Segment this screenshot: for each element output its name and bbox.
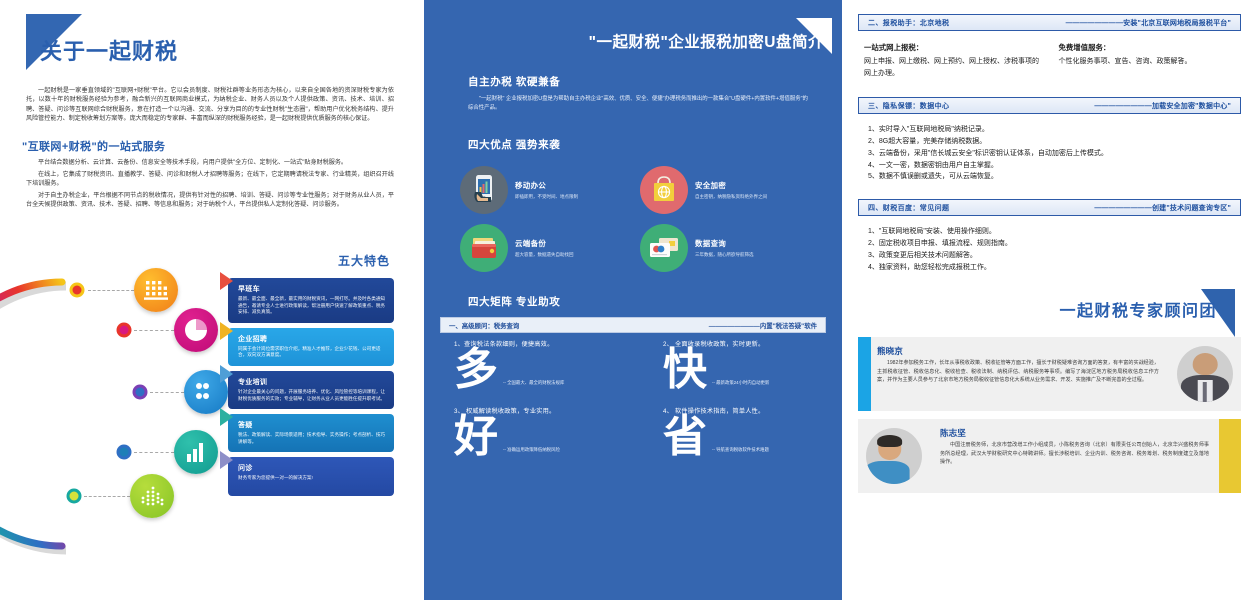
advantage-desc: 即插即用，不受时间、地点限制 xyxy=(515,193,578,200)
two-column-block: 一站式网上报税： 网上申报、网上缴税、网上预约、网上授权、涉税事项的网上办理。 … xyxy=(858,42,1241,79)
mid-section1-title: 自主办税 软硬兼备 xyxy=(468,74,842,89)
expert-band: 一起财税专家顾问团 xyxy=(858,289,1241,329)
shopping-bag-globe-icon xyxy=(640,166,688,214)
connector-line xyxy=(88,290,134,291)
avatar xyxy=(1177,346,1233,402)
panel-right: 二、报税助手：北京地税 ————————安装"北京互联网地税局报税平台" 一站式… xyxy=(842,0,1257,600)
quad-big-char: 多 xyxy=(454,348,499,392)
sub-paragraph-1: 平台结合数据分析、云计算、云备份、信息安全等技术手段，向用户提供"全方位、定制化… xyxy=(26,158,394,167)
advantages-grid: 移动办公 即插即用，不受时间、地点限制 安全加密 自主密钥，纳税 xyxy=(460,166,812,272)
pie-chart-icon xyxy=(174,308,218,352)
flag-marker-icon xyxy=(220,322,233,340)
feature-title: 企业招聘 xyxy=(238,334,386,344)
expert-band-title: 一起财税专家顾问团 xyxy=(1059,297,1217,321)
expert-card[interactable]: 陈志坚 中国注册税务师，北京市营改增工作小组成员，小陈税务咨询（北京）有限责任公… xyxy=(858,419,1241,493)
bag-glyph xyxy=(650,175,678,205)
faq-list: 1、"互联网地税局"安装、使用操作细则。 2、固定税收项目申报、填报流程、规则指… xyxy=(868,226,1241,273)
feature-card[interactable]: 早班车 最新、最全面、最全新，最实用的财税资讯，一网打尽。并及时各类通知通告，邀… xyxy=(228,278,394,323)
feature-desc: 税法、政策解读、实际场景适用；技术指导、实务操作；考点剖析、技巧讲解等。 xyxy=(238,432,386,445)
dot-matrix-icon xyxy=(134,268,178,312)
section-bar-left: 四、财税百度：常见问题 xyxy=(868,203,949,213)
flag-marker-icon xyxy=(220,451,233,469)
feature-card[interactable]: 企业招聘 同属于会计岗位需求职位介绍，精准人才推荐，企业少花钱、公司更适合，双向… xyxy=(228,328,394,366)
list-item: 2、8G超大容量，完美存储纳税数据。 xyxy=(868,136,1241,148)
column: 一站式网上报税： 网上申报、网上缴税、网上预约、网上授权、涉税事项的网上办理。 xyxy=(864,42,1041,79)
avatar xyxy=(866,428,922,484)
quad-cell: 4、 软件操作技术指南，简单人性。 省 -- 导航查询税收软件技术难题 xyxy=(633,406,842,459)
mid-section3-title: 四大矩阵 专业助攻 xyxy=(468,294,842,309)
quotes-glyph xyxy=(194,382,218,402)
column-heading: 免费增值服务： xyxy=(1059,42,1236,53)
section-bar-left: 二、报税助手：北京地税 xyxy=(868,18,949,28)
feature-title: 早班车 xyxy=(238,284,386,294)
quad-row: 1、查询税法条款细则，便捷高效。 多 -- 全国最大、最全的财税法规库 2、 全… xyxy=(424,339,842,392)
histogram-dots-icon xyxy=(130,474,174,518)
quad-big-char: 省 xyxy=(663,415,708,459)
left-subtitle: "互联网+财税"的一站式服务 xyxy=(22,138,420,154)
section-bar-left: 三、隐私保镖：数据中心 xyxy=(868,101,949,111)
privacy-list: 1、实时导入"互联网地税局"纳税记录。 2、8G超大容量，完美存储纳税数据。 3… xyxy=(868,124,1241,183)
advantage-item: 移动办公 即插即用，不受时间、地点限制 xyxy=(460,166,632,214)
quad-note: -- 准确运用政策降低纳税风险 xyxy=(503,447,560,459)
quad-big-char: 好 xyxy=(454,415,499,459)
connector-line xyxy=(84,496,130,497)
flag-marker-icon xyxy=(220,272,233,290)
feature-title: 问诊 xyxy=(238,463,386,473)
matrix-bar-right: ————————内置"税法答疑"软件 xyxy=(709,321,817,330)
quad-note: -- 最新政策24小时内自动更新 xyxy=(712,380,769,392)
list-item: 5、数据不慎误删或遗失，可从云端恢复。 xyxy=(868,171,1241,183)
accent-bar xyxy=(1219,419,1241,493)
advantage-desc: 三年数据，随心所欲导航筛选 xyxy=(695,251,754,258)
advantage-item: 云端备份 超大容量，数据遗失自助找回 xyxy=(460,224,632,272)
feature-card-list: 早班车 最新、最全面、最全新，最实用的财税资讯，一网打尽。并及时各类通知通告，邀… xyxy=(228,278,394,501)
accent-bar xyxy=(858,337,871,411)
section-bar-4: 四、财税百度：常见问题 ————————创建"技术问题查询专区" xyxy=(858,199,1241,216)
feature-desc: 财务专家为您提供一对一的解决方案! xyxy=(238,475,386,482)
brochure-page: 关于一起财税 一起财税是一家垂直领域的"互联网+财税"平台。它以会员制度、财税社… xyxy=(0,0,1259,600)
advantage-title: 数据查询 xyxy=(695,238,754,249)
list-item: 2、固定税收项目申报、填报流程、规则指南。 xyxy=(868,238,1241,250)
list-item: 4、独家资料，助您轻松完成报税工作。 xyxy=(868,262,1241,274)
expert-bio: 1982年参加税务工作，长年从事税收政策、税收征管等方面工作，擅长于财税疑难咨询… xyxy=(877,359,1159,384)
mid-section1-text: "一起财税" 企业报税加密U盘是为帮助自主办税企业"高效、优质、安全、便捷"办理… xyxy=(468,95,810,113)
middle-header: "一起财税"企业报税加密U盘简介 xyxy=(424,0,842,66)
panel-left: 关于一起财税 一起财税是一家垂直领域的"互联网+财税"平台。它以会员制度、财税社… xyxy=(0,0,420,600)
dot-matrix-glyph xyxy=(144,279,168,301)
connector-line xyxy=(150,392,184,393)
section-bar-right: ————————加载安全加密"数据中心" xyxy=(1094,101,1231,111)
matrix-bar: 一、高级顾问：税务查询 ————————内置"税法答疑"软件 xyxy=(440,317,826,333)
phone-glyph xyxy=(472,174,496,206)
pie-chart-glyph xyxy=(184,318,208,342)
feature-desc: 针对企业最关心的问题，开展服务培养、优化、风险管控等培训课程，让财税优质服务的实… xyxy=(238,389,386,402)
feature-desc: 同属于会计岗位需求职位介绍，精准人才推荐，企业少花钱、公司更适合，双向双方满意度… xyxy=(238,346,386,359)
list-item: 3、云端备份，采用"信长城云安全"标识密钥认证体系，自动加密后上传模式。 xyxy=(868,148,1241,160)
bar-chart-icon xyxy=(174,430,218,474)
wallet-glyph xyxy=(469,235,499,261)
list-item: 4、一文一密，数据密钥由用户自主掌握。 xyxy=(868,160,1241,172)
section-bar-3: 三、隐私保镖：数据中心 ————————加载安全加密"数据中心" xyxy=(858,97,1241,114)
histogram-dots-glyph xyxy=(140,485,164,507)
quad-cell: 3、 权威解读税收政策，专业实用。 好 -- 准确运用政策降低纳税风险 xyxy=(424,406,633,459)
middle-title: "一起财税"企业报税加密U盘简介 xyxy=(589,30,824,52)
feature-card[interactable]: 专业培训 针对企业最关心的问题，开展服务培养、优化、风险管控等培训课程，让财税优… xyxy=(228,371,394,409)
quad-grid: 1、查询税法条款细则，便捷高效。 多 -- 全国最大、最全的财税法规库 2、 全… xyxy=(424,339,842,459)
advantage-title: 安全加密 xyxy=(695,180,767,191)
column-heading: 一站式网上报税： xyxy=(864,42,1041,53)
quad-row: 3、 权威解读税收政策，专业实用。 好 -- 准确运用政策降低纳税风险 4、 软… xyxy=(424,406,842,459)
list-item: 1、"互联网地税局"安装、使用操作细则。 xyxy=(868,226,1241,238)
column: 免费增值服务： 个性化服务事项、宣告、咨询、政策解答。 xyxy=(1059,42,1236,79)
feature-desc: 最新、最全面、最全新，最实用的财税资讯，一网打尽。并及时各类通知通告，邀请专业人… xyxy=(238,296,386,316)
expert-bio: 中国注册税务师，北京市营改增工作小组成员，小陈税务咨询（北京）有限责任公司创始人… xyxy=(940,441,1209,466)
connector-line xyxy=(134,330,174,331)
column-body: 网上申报、网上缴税、网上预约、网上授权、涉税事项的网上办理。 xyxy=(864,56,1041,79)
list-item: 1、实时导入"互联网地税局"纳税记录。 xyxy=(868,124,1241,136)
five-features-title: 五大特色 xyxy=(338,252,390,269)
quad-cell: 1、查询税法条款细则，便捷高效。 多 -- 全国最大、最全的财税法规库 xyxy=(424,339,633,392)
ring-arc-icon xyxy=(0,268,212,558)
left-header: 关于一起财税 xyxy=(26,14,326,76)
feature-card[interactable]: 问诊 财务专家为您提供一对一的解决方案! xyxy=(228,457,394,496)
section-bar-right: ————————安装"北京互联网地税局报税平台" xyxy=(1066,18,1231,28)
list-item: 3、政策变更后相关技术问题解答。 xyxy=(868,250,1241,262)
quad-big-char: 快 xyxy=(663,348,708,392)
bar-chart-glyph xyxy=(185,442,207,462)
mobile-phone-hand-icon xyxy=(460,166,508,214)
flag-marker-icon xyxy=(220,408,233,426)
quad-note: -- 全国最大、最全的财税法规库 xyxy=(503,380,564,392)
quad-note: -- 导航查询税收软件技术难题 xyxy=(712,447,769,459)
section-bar-right: ————————创建"技术问题查询专区" xyxy=(1094,203,1231,213)
advantage-title: 移动办公 xyxy=(515,180,578,191)
advantage-desc: 自主密钥，纳税隐私资料绝外界之间 xyxy=(695,193,767,200)
flag-marker-icon xyxy=(220,365,233,383)
cards-glyph xyxy=(648,236,680,260)
column-body: 个性化服务事项、宣告、咨询、政策解答。 xyxy=(1059,56,1236,68)
advantage-desc: 超大容量，数据遗失自助找回 xyxy=(515,251,574,258)
feature-card[interactable]: 答疑 税法、政策解读、实际场景适用；技术指导、实务操作；考点剖析、技巧讲解等。 xyxy=(228,414,394,452)
wallet-icon xyxy=(460,224,508,272)
advantage-item: 数据查询 三年数据，随心所欲导航筛选 xyxy=(640,224,812,272)
page-title: 关于一起财税 xyxy=(40,34,178,66)
expert-name: 熊晓京 xyxy=(877,345,1159,357)
expert-card[interactable]: 熊晓京 1982年参加税务工作，长年从事税收政策、税收征管等方面工作，擅长于财税… xyxy=(858,337,1241,411)
circular-infographic xyxy=(0,268,212,558)
intro-paragraph: 一起财税是一家垂直领域的"互联网+财税"平台。它以会员制度、财税社群等业务形态为… xyxy=(26,86,394,124)
matrix-bar-left: 一、高级顾问：税务查询 xyxy=(449,321,519,330)
connector-line xyxy=(134,452,174,453)
section-bar-2: 二、报税助手：北京地税 ————————安装"北京互联网地税局报税平台" xyxy=(858,14,1241,31)
credit-cards-icon xyxy=(640,224,688,272)
advantage-item: 安全加密 自主密钥，纳税隐私资料绝外界之间 xyxy=(640,166,812,214)
sub-paragraph-2: 在线上，它集成了财税资讯、直播教学、答疑、问诊和财税人才招聘等服务；在线下，它定… xyxy=(26,170,394,188)
panel-middle: "一起财税"企业报税加密U盘简介 自主办税 软硬兼备 "一起财税" 企业报税加密… xyxy=(422,0,842,600)
expert-name: 陈志坚 xyxy=(940,427,1209,439)
mid-section2-title: 四大优点 强势来袭 xyxy=(468,137,842,152)
advantage-title: 云端备份 xyxy=(515,238,574,249)
feature-title: 答疑 xyxy=(238,420,386,430)
quad-cell: 2、 全面收录税收政策，实时更新。 快 -- 最新政策24小时内自动更新 xyxy=(633,339,842,392)
sub-paragraph-3: 对于自主办税企业，平台根据不同节点的税收情况，提供有针对性的招聘、培训、答疑、问… xyxy=(26,191,394,209)
feature-title: 专业培训 xyxy=(238,377,386,387)
